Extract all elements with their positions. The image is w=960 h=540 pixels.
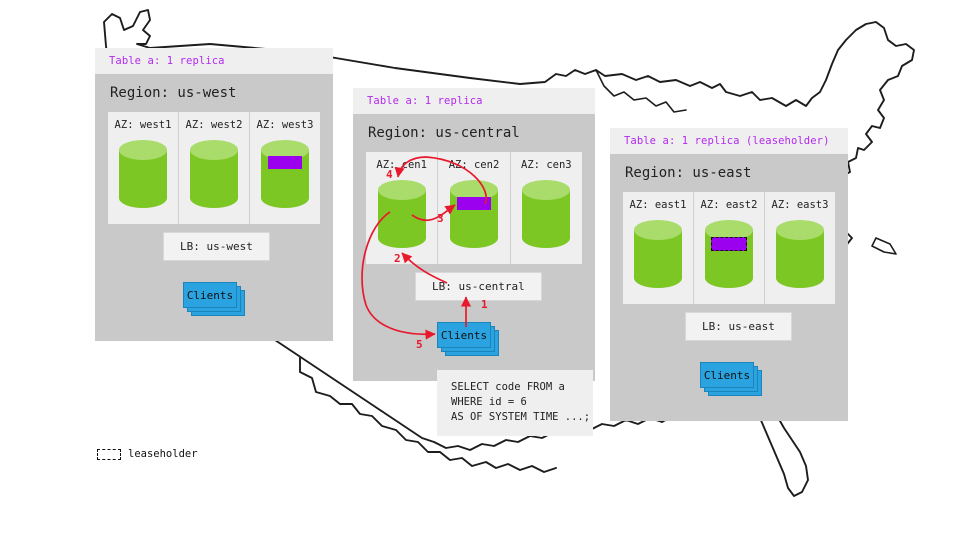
legend: leaseholder — [97, 448, 198, 460]
az-row-us-west: AZ: west1 AZ: west2 — [108, 112, 320, 224]
flow-step-label-1: 1 — [481, 298, 488, 311]
replica-marker-west3 — [268, 156, 302, 169]
cylinder-west3 — [259, 138, 311, 210]
region-panel-us-west: Table a: 1 replica Region: us-west AZ: w… — [95, 48, 333, 341]
region-header-us-east: Table a: 1 replica (leaseholder) — [610, 128, 848, 154]
cylinder-east3 — [774, 218, 826, 290]
cylinder-west1 — [117, 138, 169, 210]
az-cell-east3[interactable]: AZ: east3 — [764, 192, 835, 304]
az-cell-cen2[interactable]: AZ: cen2 — [437, 152, 509, 264]
flow-step-label-5: 5 — [416, 338, 423, 351]
load-balancer-us-central[interactable]: LB: us-central — [415, 272, 542, 301]
region-title-us-east: Region: us-east — [623, 154, 835, 192]
region-title-us-west: Region: us-west — [108, 74, 320, 112]
az-label-east1: AZ: east1 — [630, 199, 687, 211]
region-panel-us-central: Table a: 1 replica Region: us-central AZ… — [353, 88, 595, 381]
az-cell-west1[interactable]: AZ: west1 — [108, 112, 178, 224]
az-label-west2: AZ: west2 — [186, 119, 243, 131]
az-label-east3: AZ: east3 — [772, 199, 829, 211]
region-panel-us-east: Table a: 1 replica (leaseholder) Region:… — [610, 128, 848, 421]
az-cell-east2[interactable]: AZ: east2 — [693, 192, 764, 304]
az-label-cen2: AZ: cen2 — [449, 159, 500, 171]
load-balancer-us-east[interactable]: LB: us-east — [685, 312, 792, 341]
cylinder-east1 — [632, 218, 684, 290]
cylinder-east2 — [703, 218, 755, 290]
az-row-us-east: AZ: east1 AZ: east2 — [623, 192, 835, 304]
flow-step-label-2: 2 — [394, 252, 401, 265]
diagram-canvas: Table a: 1 replica Region: us-west AZ: w… — [0, 0, 960, 540]
replica-marker-cen2 — [457, 197, 491, 210]
az-cell-west3[interactable]: AZ: west3 — [249, 112, 320, 224]
cylinder-cen2 — [448, 178, 500, 250]
az-label-cen1: AZ: cen1 — [376, 159, 427, 171]
az-cell-east1[interactable]: AZ: east1 — [623, 192, 693, 304]
load-balancer-us-west[interactable]: LB: us-west — [163, 232, 270, 261]
az-cell-cen3[interactable]: AZ: cen3 — [510, 152, 582, 264]
cylinder-west2 — [188, 138, 240, 210]
clients-stack-us-east[interactable]: Clients — [700, 362, 762, 396]
clients-card-front[interactable]: Clients — [700, 362, 754, 388]
az-cell-west2[interactable]: AZ: west2 — [178, 112, 249, 224]
az-label-west3: AZ: west3 — [257, 119, 314, 131]
clients-card-front[interactable]: Clients — [437, 322, 491, 348]
az-label-west1: AZ: west1 — [115, 119, 172, 131]
region-header-us-west: Table a: 1 replica — [95, 48, 333, 74]
cylinder-cen3 — [520, 178, 572, 250]
region-header-us-central: Table a: 1 replica — [353, 88, 595, 114]
flow-step-label-4: 4 — [386, 168, 393, 181]
clients-stack-us-central[interactable]: Clients — [437, 322, 499, 356]
region-title-us-central: Region: us-central — [366, 114, 582, 152]
cylinder-cen1 — [376, 178, 428, 250]
replica-marker-leaseholder-east2 — [711, 237, 747, 251]
clients-stack-us-west[interactable]: Clients — [183, 282, 245, 316]
az-label-east2: AZ: east2 — [701, 199, 758, 211]
legend-label-leaseholder: leaseholder — [128, 448, 198, 460]
leaseholder-swatch-icon — [97, 449, 121, 460]
az-row-us-central: AZ: cen1 AZ: cen2 — [366, 152, 582, 264]
clients-card-front[interactable]: Clients — [183, 282, 237, 308]
sql-query-box: SELECT code FROM a WHERE id = 6 AS OF SY… — [437, 370, 593, 436]
az-cell-cen1[interactable]: AZ: cen1 — [366, 152, 437, 264]
flow-step-label-3: 3 — [437, 212, 444, 225]
az-label-cen3: AZ: cen3 — [521, 159, 572, 171]
